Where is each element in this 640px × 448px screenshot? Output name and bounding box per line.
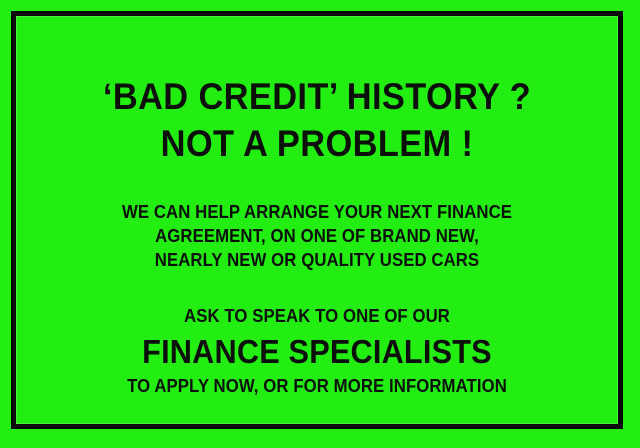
cta-lead-in-ask-to-speak: ASK TO SPEAK TO ONE OF OUR (37, 304, 597, 328)
headline-bad-credit-history: ‘BAD CREDIT’ HISTORY ? (37, 74, 597, 119)
body-line-nearly-new: NEARLY NEW OR QUALITY USED CARS (37, 248, 597, 272)
body-line-agreement: AGREEMENT, ON ONE OF BRAND NEW, (37, 224, 597, 248)
cta-emphasis-finance-specialists: FINANCE SPECIALISTS (37, 332, 597, 372)
body-line-we-can-help: WE CAN HELP ARRANGE YOUR NEXT FINANCE (37, 200, 597, 224)
headline-not-a-problem: NOT A PROBLEM ! (37, 121, 597, 166)
cta-closing-to-apply-now: TO APPLY NOW, OR FOR MORE INFORMATION (37, 374, 597, 398)
advertisement-poster: ‘BAD CREDIT’ HISTORY ? NOT A PROBLEM ! W… (0, 0, 640, 448)
poster-content: ‘BAD CREDIT’ HISTORY ? NOT A PROBLEM ! W… (16, 16, 618, 424)
